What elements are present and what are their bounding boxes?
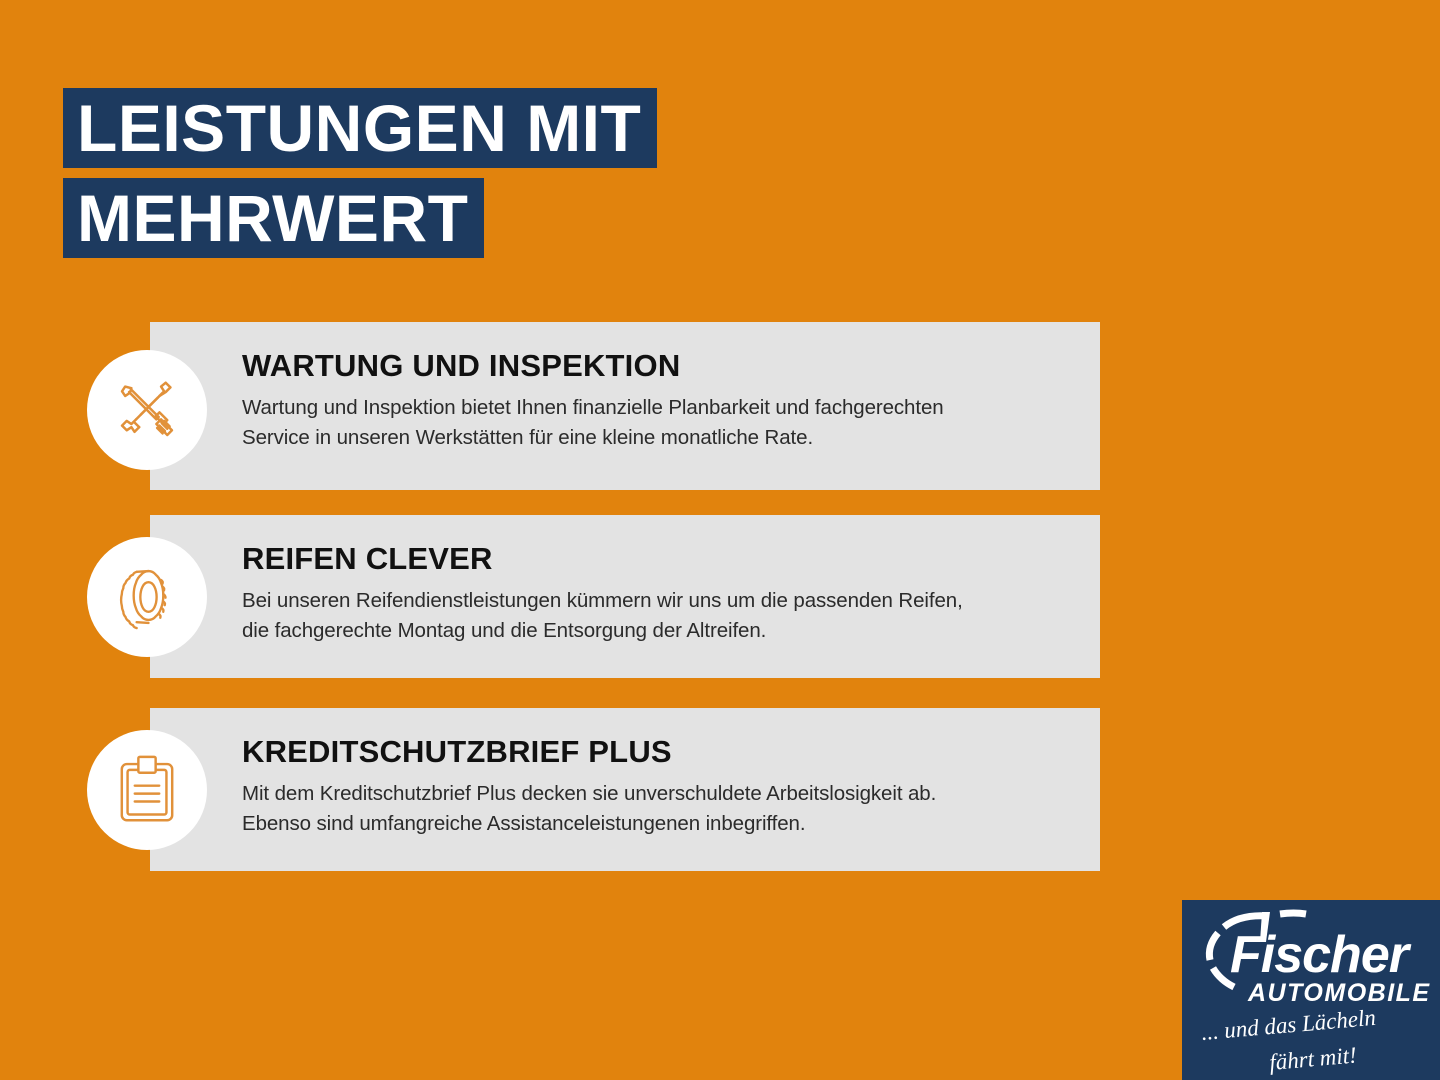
- service-card-description-line: die fachgerechte Montag und die Entsorgu…: [242, 616, 1060, 646]
- logo-tagline: ... und das Lächeln fährt mit!: [1182, 1008, 1440, 1080]
- logo-brand-text: Fischer: [1230, 926, 1412, 984]
- service-card-description: Bei unseren Reifendienstleistungen kümme…: [242, 586, 1060, 646]
- service-icon-badge: [87, 350, 207, 470]
- logo-mark: Fischer AUTOMOBILE: [1182, 900, 1440, 1020]
- service-card-heading: KREDITSCHUTZBRIEF PLUS: [242, 734, 1060, 770]
- service-card-description-line: Mit dem Kreditschutzbrief Plus decken si…: [242, 779, 1060, 809]
- service-card: KREDITSCHUTZBRIEF PLUS Mit dem Kreditsch…: [150, 708, 1100, 871]
- service-card-description-line: Bei unseren Reifendienstleistungen kümme…: [242, 586, 1060, 616]
- page-title: LEISTUNGEN MIT MEHRWERT: [63, 88, 963, 258]
- logo-tagline-line-2: fährt mit!: [1268, 1042, 1357, 1075]
- service-card-description-line: Service in unseren Werkstätten für eine …: [242, 423, 1060, 453]
- wrench-screwdriver-icon: [108, 371, 186, 449]
- service-card-heading: WARTUNG UND INSPEKTION: [242, 348, 1060, 384]
- service-card: WARTUNG UND INSPEKTION Wartung und Inspe…: [150, 322, 1100, 490]
- service-card: REIFEN CLEVER Bei unseren Reifendienstle…: [150, 515, 1100, 678]
- service-icon-badge: [87, 537, 207, 657]
- logo-subbrand-text: AUTOMOBILE: [1247, 979, 1431, 1007]
- service-card-description-line: Ebenso sind umfangreiche Assistanceleist…: [242, 809, 1060, 839]
- page-title-line-1: LEISTUNGEN MIT: [63, 88, 657, 168]
- service-card-description: Wartung und Inspektion bietet Ihnen fina…: [242, 393, 1060, 453]
- service-icon-badge: [87, 730, 207, 850]
- fischer-automobile-logo: Fischer AUTOMOBILE ... und das Lächeln f…: [1182, 900, 1440, 1080]
- service-card-description-line: Wartung und Inspektion bietet Ihnen fina…: [242, 393, 1060, 423]
- logo-tagline-line-1: ... und das Lächeln: [1200, 1008, 1377, 1045]
- service-card-heading: REIFEN CLEVER: [242, 541, 1060, 577]
- clipboard-icon: [114, 754, 180, 826]
- page-title-line-2: MEHRWERT: [63, 178, 484, 258]
- service-card-description: Mit dem Kreditschutzbrief Plus decken si…: [242, 779, 1060, 839]
- tire-icon: [110, 560, 184, 634]
